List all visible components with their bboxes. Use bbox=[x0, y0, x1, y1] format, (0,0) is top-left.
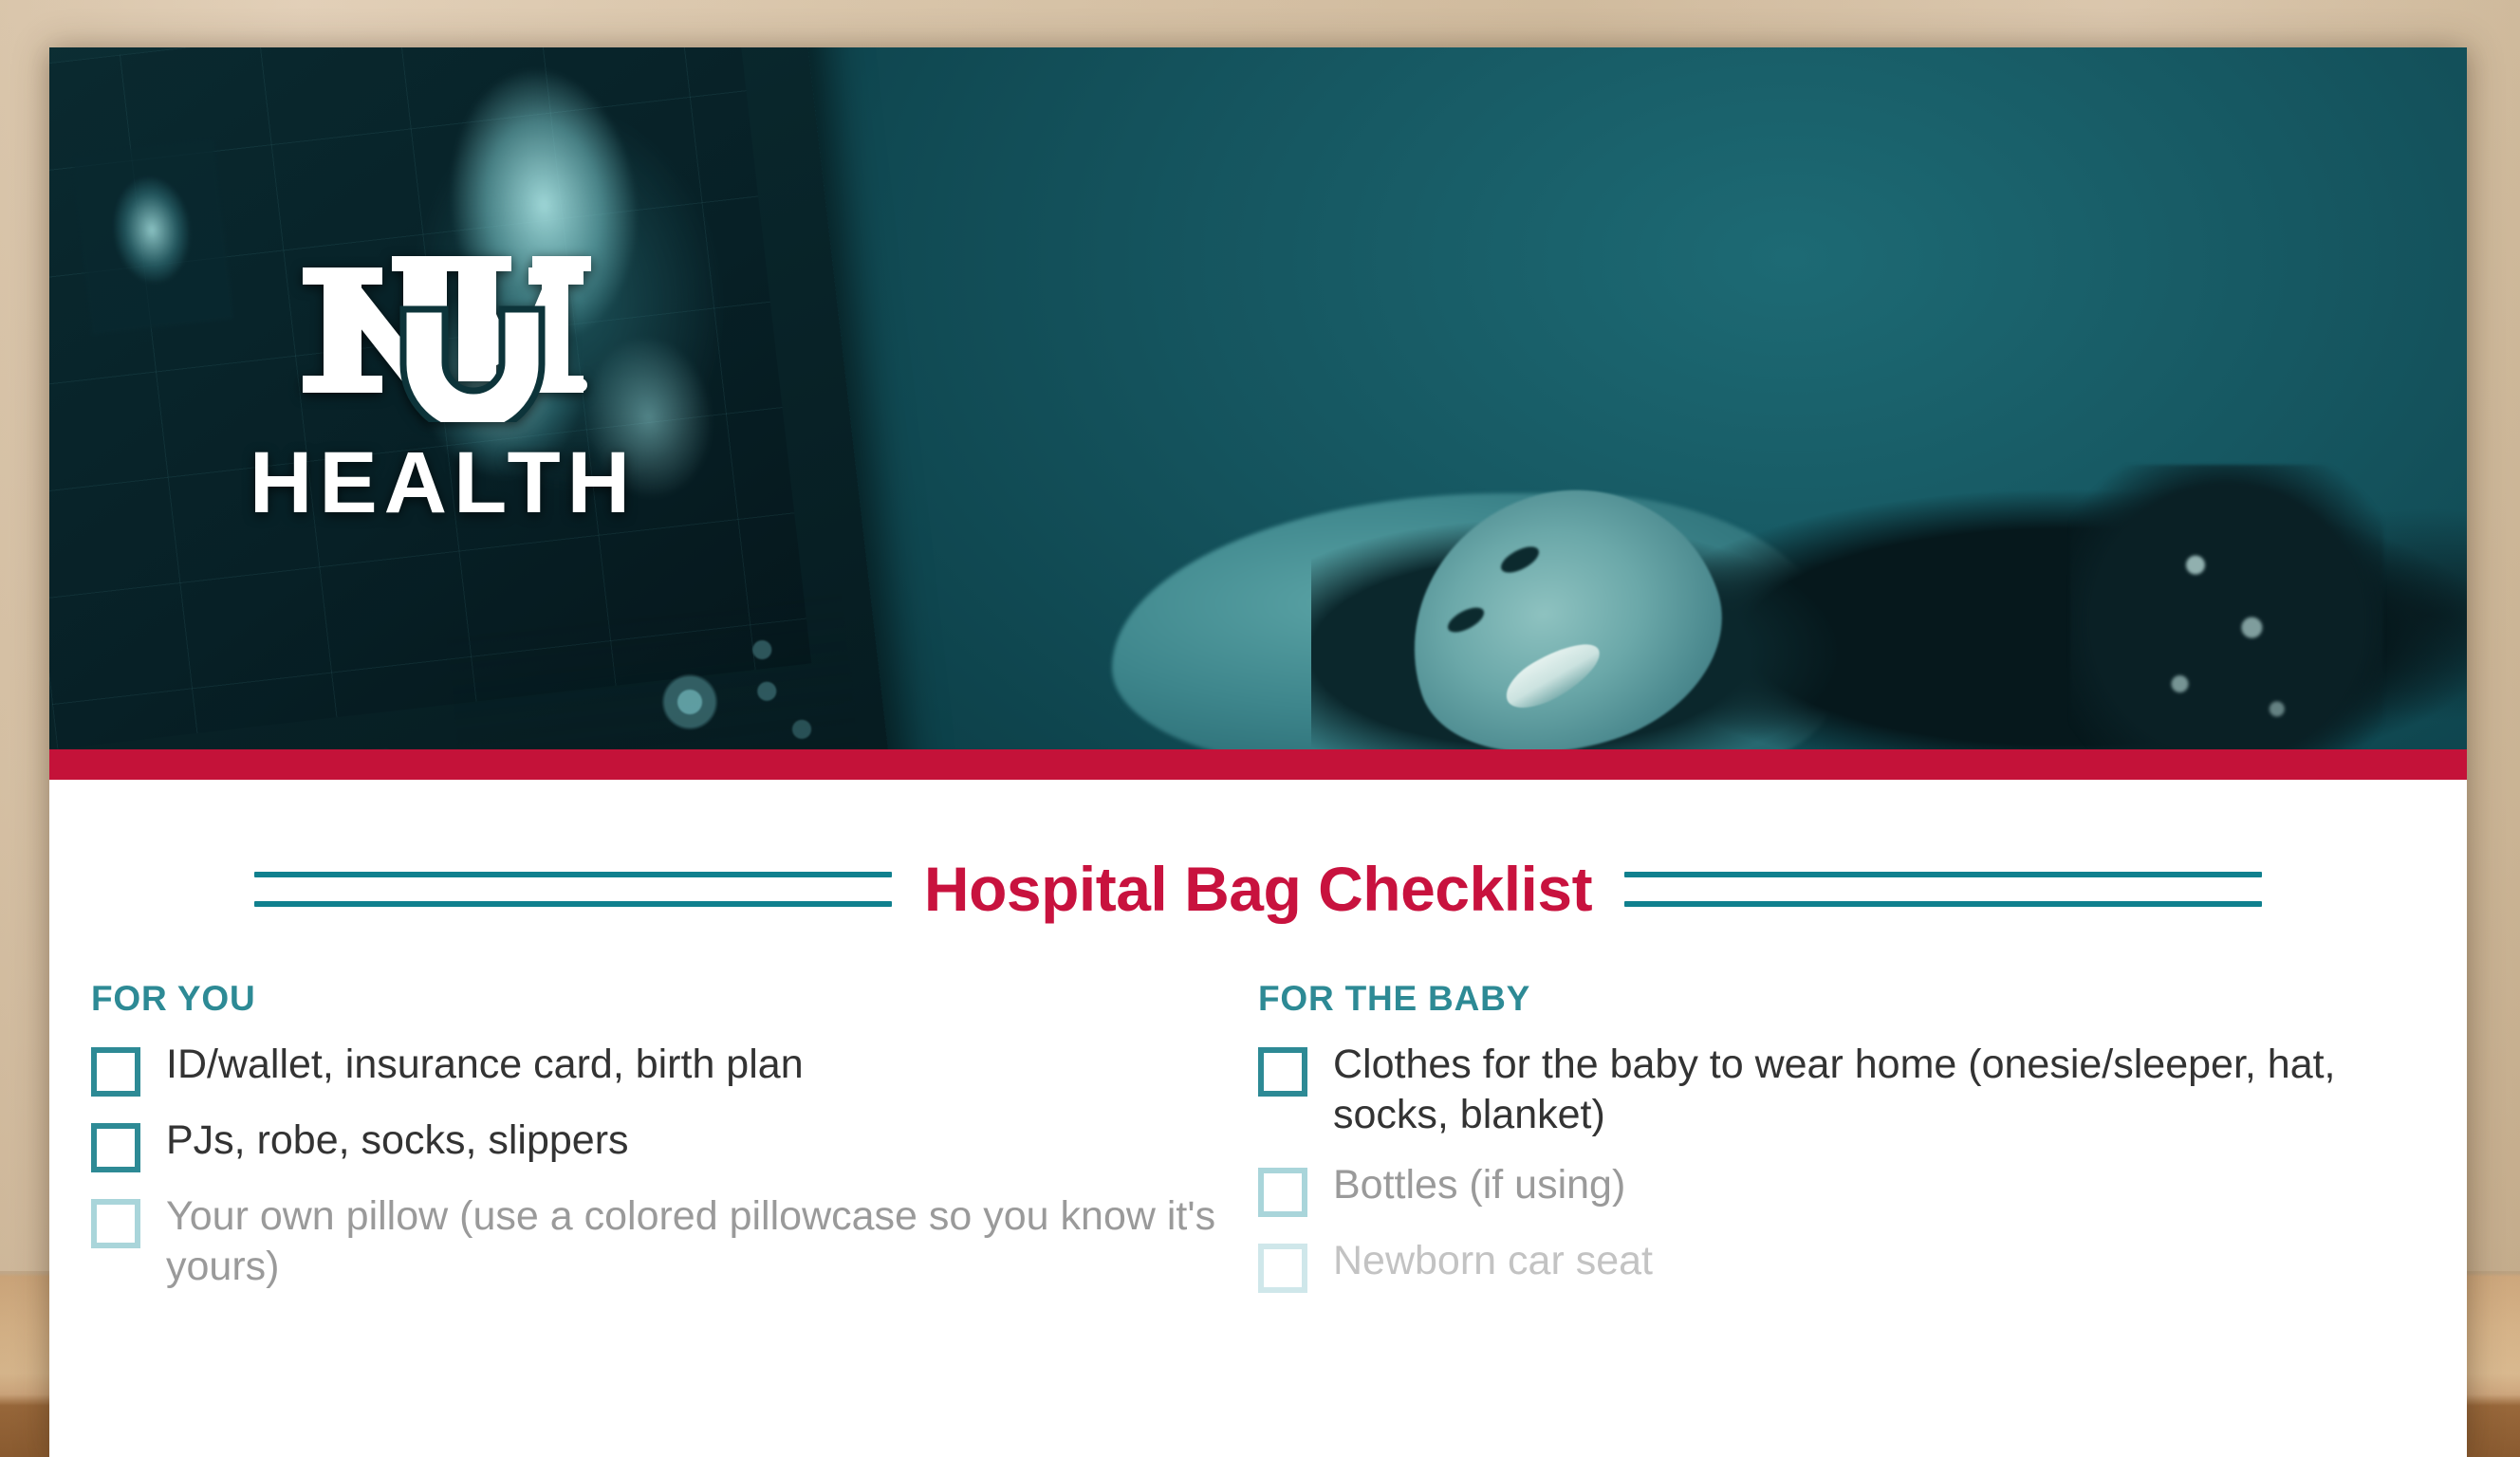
unm-monogram-icon bbox=[291, 218, 595, 422]
unm-health-logo: HEALTH bbox=[244, 218, 642, 526]
list-item-label: Clothes for the baby to wear home (onesi… bbox=[1333, 1040, 2396, 1141]
page-title: Hospital Bag Checklist bbox=[924, 858, 1592, 920]
checkbox-icon[interactable] bbox=[91, 1199, 140, 1248]
ultrasound-thumbnail-image bbox=[72, 139, 234, 335]
list-item-label: Newborn car seat bbox=[1333, 1236, 1653, 1286]
list-item[interactable]: Clothes for the baby to wear home (onesi… bbox=[1258, 1040, 2425, 1141]
red-divider-bar bbox=[49, 749, 2467, 780]
ultrasound-control-dials bbox=[445, 583, 868, 749]
bottom-fade-overlay bbox=[49, 1317, 2467, 1457]
column-heading-for-you: FOR YOU bbox=[91, 979, 1258, 1019]
checklist-column-for-the-baby: FOR THE BABY Clothes for the baby to wea… bbox=[1258, 979, 2425, 1312]
rule-line-top bbox=[1624, 872, 2262, 877]
checkbox-icon[interactable] bbox=[1258, 1244, 1307, 1293]
list-item[interactable]: PJs, robe, socks, slippers bbox=[91, 1116, 1258, 1172]
list-item[interactable]: Newborn car seat bbox=[1258, 1236, 2425, 1293]
banner-photo: HEALTH bbox=[49, 47, 2467, 749]
list-item-label: PJs, robe, socks, slippers bbox=[166, 1116, 629, 1166]
list-item[interactable]: ID/wallet, insurance card, birth plan bbox=[91, 1040, 1258, 1097]
title-row: Hospital Bag Checklist bbox=[91, 858, 2425, 920]
checklist-body: Hospital Bag Checklist FOR YOU ID/wallet… bbox=[49, 858, 2467, 1457]
checkbox-icon[interactable] bbox=[91, 1123, 140, 1172]
checklist-column-for-you: FOR YOU ID/wallet, insurance card, birth… bbox=[91, 979, 1258, 1312]
checklist-columns: FOR YOU ID/wallet, insurance card, birth… bbox=[91, 979, 2425, 1312]
handout-document: HEALTH Hospital Bag Checklist FOR YOU bbox=[49, 47, 2467, 1457]
checkbox-icon[interactable] bbox=[91, 1047, 140, 1097]
title-rule-right bbox=[1624, 872, 2262, 907]
rule-line-top bbox=[254, 872, 892, 877]
title-rule-left bbox=[254, 872, 892, 907]
list-item-label: Bottles (if using) bbox=[1333, 1160, 1625, 1210]
checkbox-icon[interactable] bbox=[1258, 1168, 1307, 1217]
list-item-label: Your own pillow (use a colored pillowcas… bbox=[166, 1191, 1229, 1293]
list-item-label: ID/wallet, insurance card, birth plan bbox=[166, 1040, 804, 1090]
list-item[interactable]: Your own pillow (use a colored pillowcas… bbox=[91, 1191, 1258, 1293]
checkbox-icon[interactable] bbox=[1258, 1047, 1307, 1097]
rule-line-bottom bbox=[254, 901, 892, 907]
list-item[interactable]: Bottles (if using) bbox=[1258, 1160, 2425, 1217]
brand-wordmark-text: HEALTH bbox=[244, 439, 642, 526]
photo-patterned-garment bbox=[2070, 465, 2383, 749]
rule-line-bottom bbox=[1624, 901, 2262, 907]
column-heading-for-the-baby: FOR THE BABY bbox=[1258, 979, 2425, 1019]
